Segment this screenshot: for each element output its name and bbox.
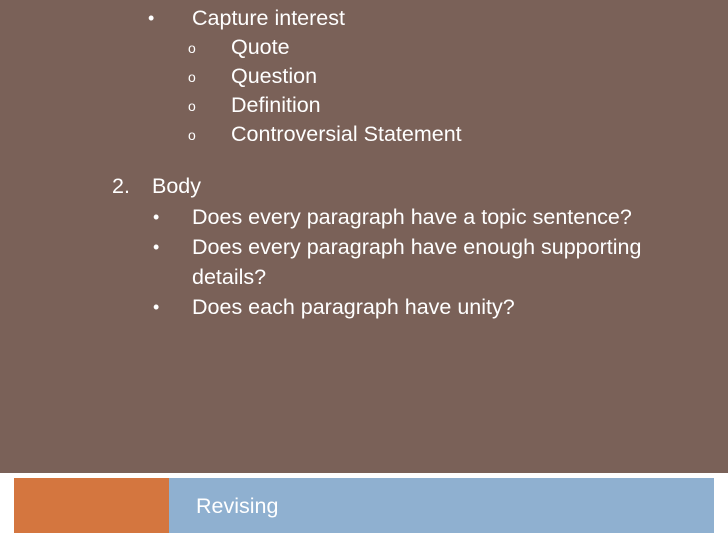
circle-bullet-icon: o: [188, 91, 196, 121]
list-item-label: Question: [231, 64, 317, 88]
list-item-label: Does each paragraph have unity?: [192, 295, 515, 319]
footer-accent-block: [14, 478, 169, 533]
slide: • Capture interest o Quote o Question o …: [0, 0, 728, 546]
list-item: • Capture interest: [0, 4, 728, 33]
list-item: o Controversial Statement: [0, 120, 728, 149]
slide-edge-bottom: [0, 533, 728, 546]
list-item-label: Does every paragraph have enough support…: [192, 235, 641, 289]
slide-body: • Capture interest o Quote o Question o …: [0, 0, 728, 322]
list-item: o Quote: [0, 33, 728, 62]
list-item: o Definition: [0, 91, 728, 120]
circle-bullet-icon: o: [188, 33, 196, 63]
list-item-label: Capture interest: [192, 6, 345, 30]
slide-title: Revising: [196, 492, 278, 520]
list-item: o Question: [0, 62, 728, 91]
numbered-heading: 2. Body: [0, 171, 728, 201]
list-item: • Does each paragraph have unity?: [0, 292, 728, 322]
bullet-icon: •: [153, 292, 159, 322]
list-item-label: Definition: [231, 93, 321, 117]
first-group-list: • Capture interest o Quote o Question o …: [0, 4, 728, 149]
list-item-label: Controversial Statement: [231, 122, 462, 146]
list-item-label: Does every paragraph have a topic senten…: [192, 205, 632, 229]
circle-bullet-icon: o: [188, 120, 196, 150]
list-number: 2.: [112, 171, 130, 201]
bullet-icon: •: [153, 202, 159, 232]
list-item-label: Quote: [231, 35, 290, 59]
second-group-list: • Does every paragraph have a topic sent…: [0, 202, 728, 322]
list-item: • Does every paragraph have enough suppo…: [0, 232, 728, 292]
numbered-heading-label: Body: [152, 174, 201, 198]
bullet-icon: •: [148, 4, 154, 33]
list-item: • Does every paragraph have a topic sent…: [0, 202, 728, 232]
circle-bullet-icon: o: [188, 62, 196, 92]
bullet-icon: •: [153, 232, 159, 262]
